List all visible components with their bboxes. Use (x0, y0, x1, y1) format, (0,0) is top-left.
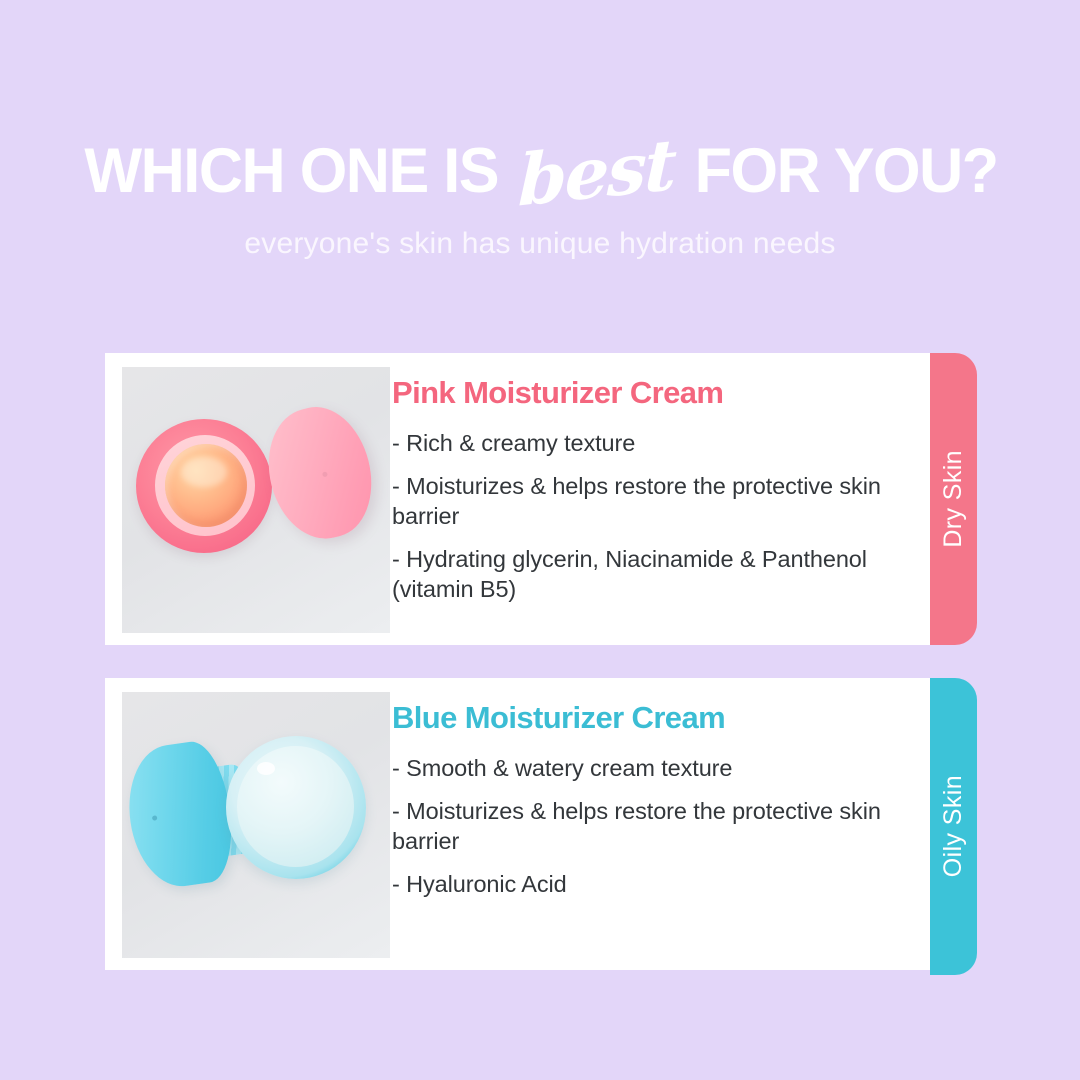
pink-jar-lid-icon (256, 397, 385, 549)
product-title-pink: Pink Moisturizer Cream (392, 377, 904, 410)
product-card-blue[interactable]: Blue Moisturizer Cream - Smooth & watery… (105, 678, 930, 970)
product-bullet: - Rich & creamy texture (392, 428, 904, 458)
skin-type-tab-dry[interactable]: Dry Skin (930, 353, 977, 645)
product-info-pink: Pink Moisturizer Cream - Rich & creamy t… (392, 353, 930, 645)
pink-jar-base-icon (136, 419, 272, 553)
product-bullet: - Hyaluronic Acid (392, 869, 904, 899)
blue-jar-lid-icon (122, 738, 239, 893)
skin-type-tab-label: Dry Skin (939, 450, 968, 548)
product-bullet: - Moisturizes & helps restore the protec… (392, 471, 904, 531)
skin-type-tab-oily[interactable]: Oily Skin (930, 678, 977, 975)
blue-cream-jar-image (122, 692, 390, 958)
page-subtitle: everyone's skin has unique hydration nee… (0, 227, 1080, 261)
headline-script-word: best (504, 128, 691, 218)
blue-cream-content-icon (237, 746, 354, 867)
page-header: WHICH ONE IS best FOR YOU? everyone's sk… (0, 0, 1080, 261)
pink-cream-jar-image (122, 367, 390, 633)
product-bullet: - Hydrating glycerin, Niacinamide & Pant… (392, 544, 904, 604)
product-bullet: - Smooth & watery cream texture (392, 753, 904, 783)
product-image-wrap-pink (105, 353, 392, 645)
product-image-wrap-blue (105, 678, 392, 970)
product-title-blue: Blue Moisturizer Cream (392, 702, 904, 735)
pink-cream-content-icon (165, 444, 247, 527)
product-info-blue: Blue Moisturizer Cream - Smooth & watery… (392, 678, 930, 970)
pink-jar-inner-icon (155, 435, 255, 536)
product-card-pink[interactable]: Pink Moisturizer Cream - Rich & creamy t… (105, 353, 930, 645)
skin-type-tab-label: Oily Skin (939, 775, 968, 877)
product-bullet: - Moisturizes & helps restore the protec… (392, 796, 904, 856)
headline-part-2: FOR YOU? (694, 140, 997, 203)
headline-part-1: WHICH ONE IS (84, 140, 498, 203)
page-title: WHICH ONE IS best FOR YOU? (0, 133, 1080, 203)
blue-jar-base-icon (226, 736, 366, 879)
